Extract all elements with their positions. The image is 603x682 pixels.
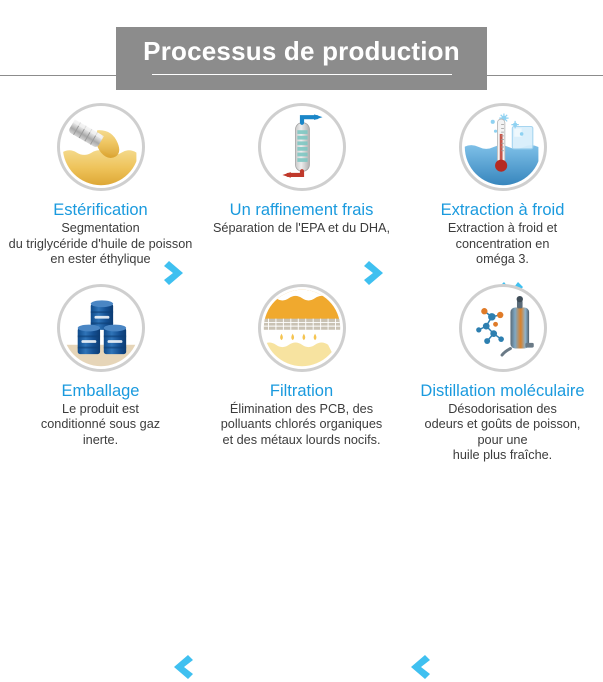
- step-title: Filtration: [205, 381, 398, 401]
- step-raffinement[interactable]: Un raffinement frais Séparation de l'EPA…: [201, 103, 402, 268]
- step-title: Extraction à froid: [406, 200, 599, 220]
- page-header: Processus de production: [0, 0, 603, 100]
- step-description: Séparation de l'EPA et du DHA,: [205, 221, 398, 237]
- step-distillation-moleculaire[interactable]: Distillation moléculaire Désodorisation …: [402, 284, 603, 464]
- step-emballage[interactable]: Emballage Le produit est conditionné sou…: [0, 284, 201, 464]
- title-underline: [152, 74, 452, 75]
- arrow-distillation-to-filtration: [405, 652, 431, 682]
- process-row-top: Estérification Segmentation du triglycér…: [0, 103, 603, 268]
- step-extraction-froid[interactable]: Extraction à froid Extraction à froid et…: [402, 103, 603, 268]
- oil-pipe-pour-icon: [57, 103, 145, 191]
- distillation-column-icon: [258, 103, 346, 191]
- blue-barrels-icon: [57, 284, 145, 372]
- page-title: Processus de production: [116, 35, 487, 67]
- title-banner: Processus de production: [116, 27, 487, 90]
- step-title: Estérification: [4, 200, 197, 220]
- process-row-bottom: Emballage Le produit est conditionné sou…: [0, 284, 603, 464]
- step-description: Désodorisation des odeurs et goûts de po…: [406, 402, 599, 464]
- step-title: Distillation moléculaire: [406, 381, 599, 401]
- step-title: Un raffinement frais: [205, 200, 398, 220]
- arrow-filtration-to-emballage: [168, 652, 194, 682]
- cold-thermometer-icon: [459, 103, 547, 191]
- step-description: Extraction à froid et concentration en o…: [406, 221, 599, 268]
- step-description: Le produit est conditionné sous gaz iner…: [4, 402, 197, 449]
- molecular-still-icon: [459, 284, 547, 372]
- step-esterification[interactable]: Estérification Segmentation du triglycér…: [0, 103, 201, 268]
- filter-layers-icon: [258, 284, 346, 372]
- step-description: Élimination des PCB, des polluants chlor…: [205, 402, 398, 449]
- step-filtration[interactable]: Filtration Élimination des PCB, des poll…: [201, 284, 402, 464]
- step-title: Emballage: [4, 381, 197, 401]
